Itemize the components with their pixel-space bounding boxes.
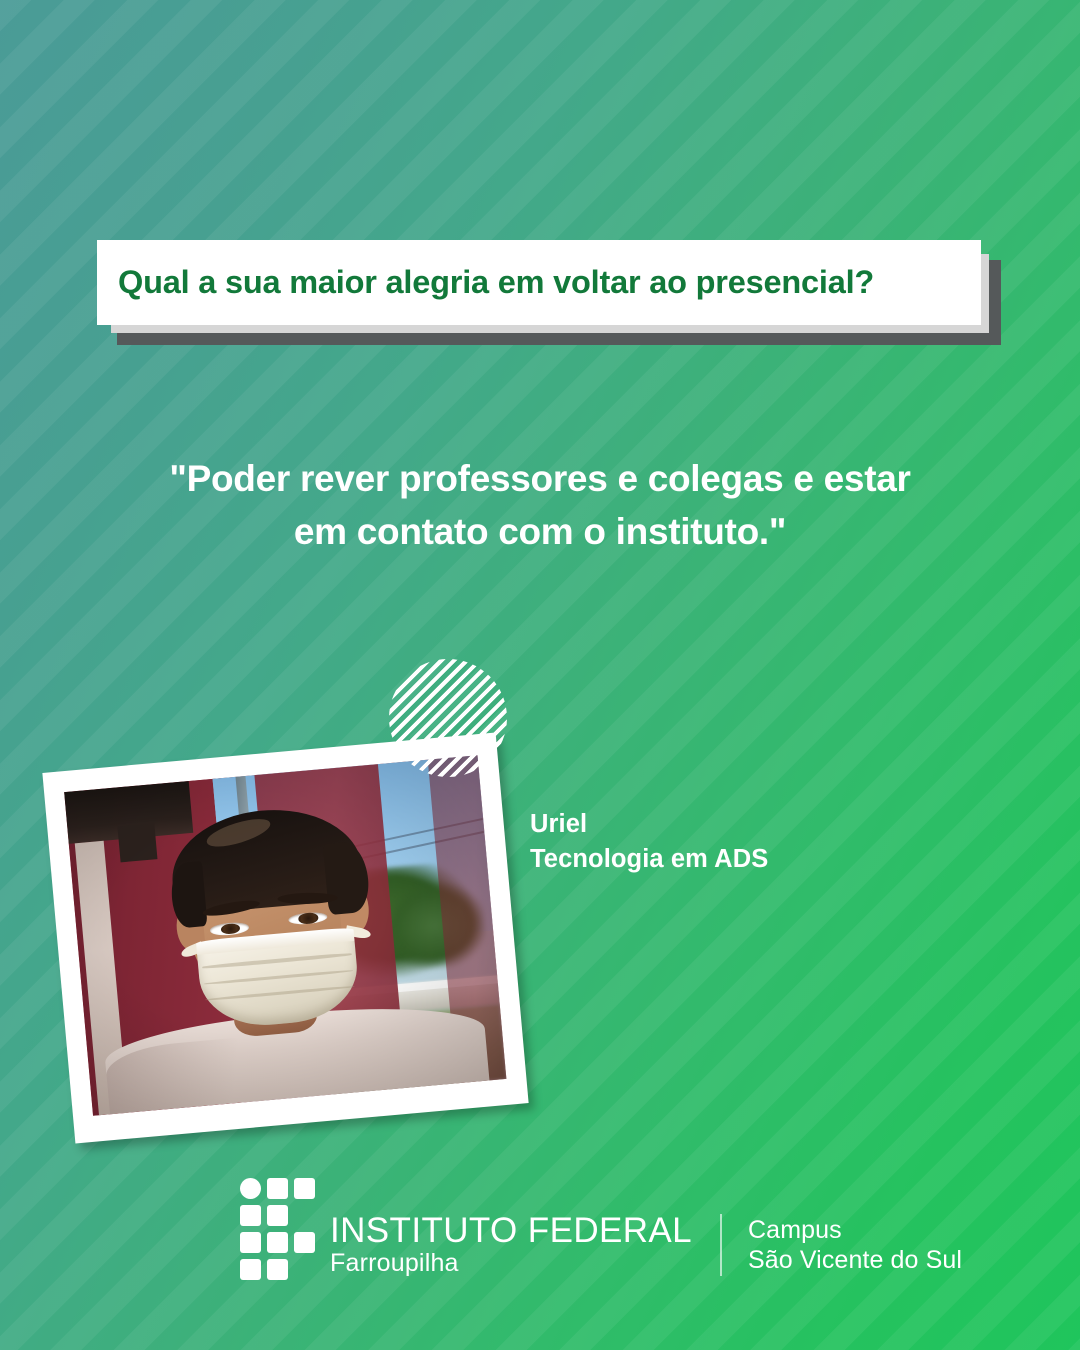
student-name: Uriel — [530, 807, 768, 842]
logo-cell-square-0-2 — [294, 1178, 315, 1199]
logo-cell-square-1-1 — [267, 1205, 288, 1226]
heading-card-front: Qual a sua maior alegria em voltar ao pr… — [97, 240, 981, 325]
logo-cell-square-2-2 — [294, 1232, 315, 1253]
poster-canvas: Qual a sua maior alegria em voltar ao pr… — [0, 0, 1080, 1350]
quote-line-1: "Poder rever professores e colegas e est… — [90, 452, 990, 505]
student-photo — [64, 755, 506, 1116]
quote-line-2: em contato com o instituto." — [90, 505, 990, 558]
logo-cell-square-1-0 — [240, 1205, 261, 1226]
quote-block: "Poder rever professores e colegas e est… — [90, 452, 990, 559]
logo-cell-square-2-1 — [267, 1232, 288, 1253]
institution-name-line2: Farroupilha — [330, 1249, 692, 1279]
logo-cell-square-3-1 — [267, 1259, 288, 1280]
photo-person — [64, 755, 506, 1116]
logo-cell-square-3-0 — [240, 1259, 261, 1280]
logo-divider — [720, 1214, 722, 1276]
striped-circle-decoration — [389, 659, 507, 777]
iffar-logo-mark-icon — [240, 1178, 316, 1288]
heading-question-text: Qual a sua maior alegria em voltar ao pr… — [97, 264, 874, 301]
institution-name-block: INSTITUTO FEDERAL Farroupilha — [330, 1212, 692, 1279]
campus-label: Campus — [748, 1215, 962, 1245]
institution-logo: INSTITUTO FEDERAL Farroupilha Campus São… — [240, 1178, 962, 1288]
logo-cell-circle-0-0 — [240, 1178, 261, 1199]
person-hair-side-right — [323, 840, 371, 915]
student-photo-frame — [42, 733, 528, 1144]
logo-cell-square-2-0 — [240, 1232, 261, 1253]
student-course: Tecnologia em ADS — [530, 842, 768, 877]
campus-name-block: Campus São Vicente do Sul — [748, 1215, 962, 1275]
logo-cell-square-0-1 — [267, 1178, 288, 1199]
heading-card: Qual a sua maior alegria em voltar ao pr… — [97, 240, 981, 325]
credit-block: Uriel Tecnologia em ADS — [530, 807, 768, 876]
institution-name-line1: INSTITUTO FEDERAL — [330, 1212, 692, 1249]
campus-name: São Vicente do Sul — [748, 1245, 962, 1275]
